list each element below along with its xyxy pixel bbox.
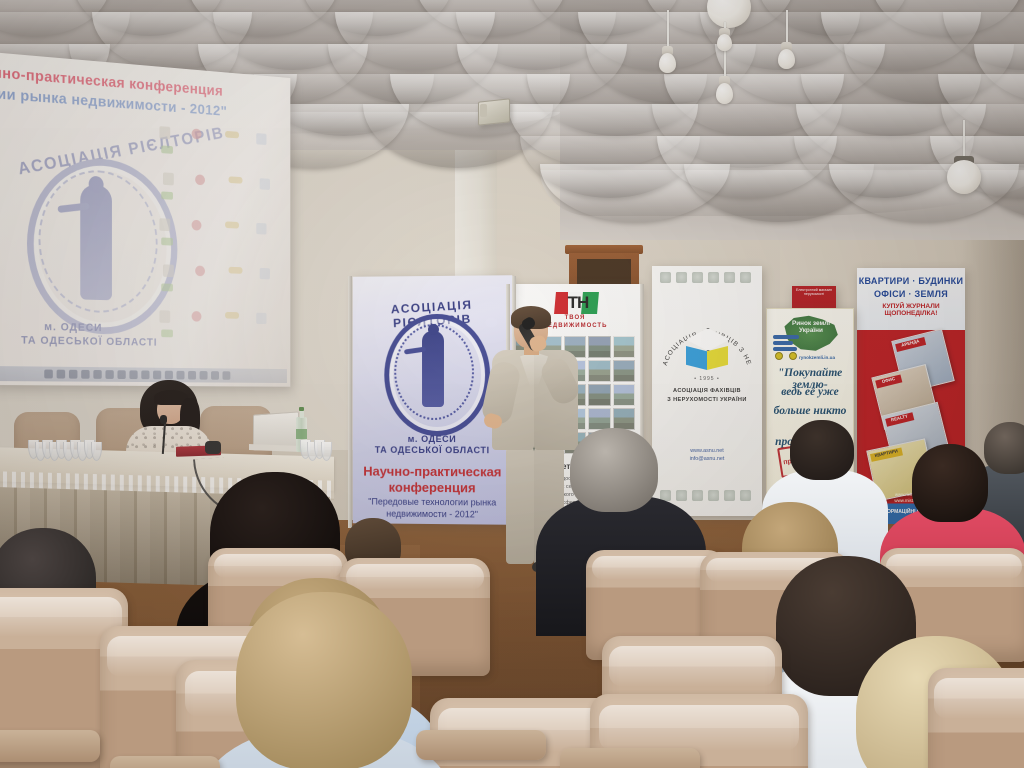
banner-land-map-text: Ринок землі України bbox=[785, 320, 837, 335]
seat-highlight bbox=[934, 678, 1024, 720]
banner-afnu-ornament bbox=[708, 272, 719, 283]
banner-afnu-line-2: З НЕРУХОМОСТІ УКРАЇНИ bbox=[652, 397, 762, 403]
banner-tn-photo-cell bbox=[613, 408, 635, 430]
seat-highlight bbox=[609, 646, 775, 688]
banner-afnu-year: • 1995 • bbox=[682, 376, 732, 382]
lamp-cord bbox=[963, 120, 965, 158]
seat-armrest bbox=[110, 756, 220, 768]
ceiling-globe-lamp bbox=[707, 0, 751, 28]
ceiling-globe-lamp bbox=[947, 160, 981, 194]
ceiling-bulb bbox=[778, 49, 795, 69]
projector-lens-icon bbox=[480, 104, 487, 117]
banner-land-quote-2: ведь её уже bbox=[769, 386, 851, 398]
banner-magazines-head-1: КВАРТИРИ · БУДИНКИ bbox=[857, 276, 965, 286]
afnu-cube-left-face bbox=[686, 346, 707, 370]
land-bar-1 bbox=[773, 335, 799, 339]
audience-person-head bbox=[790, 420, 854, 480]
audience-person-head bbox=[912, 444, 988, 522]
banner-afnu-ornament bbox=[740, 272, 751, 283]
banner-tn-photo-cell bbox=[588, 408, 610, 430]
land-wheel-2 bbox=[789, 352, 797, 360]
screen-glare bbox=[0, 52, 290, 387]
microphone-head bbox=[160, 415, 167, 424]
magazine-band-1: АРЕНДА bbox=[895, 337, 926, 352]
banner-far-top-text: Електронний магазин нерухомості bbox=[794, 288, 834, 296]
seat-highlight bbox=[0, 597, 122, 637]
land-bar-3 bbox=[773, 347, 797, 351]
ceiling-bulb bbox=[717, 34, 732, 51]
land-wheel-1 bbox=[775, 352, 783, 360]
banner-magazines-head-2: ОФІСИ · ЗЕМЛЯ bbox=[857, 289, 965, 299]
projection-screen: ая научно-практическая конференция хноло… bbox=[0, 52, 290, 387]
afnu-cube-logo-icon bbox=[686, 328, 728, 370]
seat-highlight bbox=[214, 554, 343, 579]
land-bar-2 bbox=[773, 341, 793, 345]
banner-afnu-line-1: АСОЦІАЦІЯ ФАХІВЦІВ bbox=[652, 388, 762, 394]
audience-person-head bbox=[236, 592, 412, 768]
banner-land-quote-3: больше никто bbox=[769, 405, 851, 417]
magazine-band-2: ОФИС bbox=[875, 374, 902, 388]
banner-afnu-ornament bbox=[724, 272, 735, 283]
audience-person-head bbox=[570, 428, 658, 512]
magazine-band-3: REALTY bbox=[885, 412, 914, 427]
banner-tn-photo-cell bbox=[613, 336, 635, 358]
banner-afnu-ornament bbox=[676, 272, 687, 283]
audience-person-head bbox=[984, 422, 1024, 474]
banner-afnu-ornament bbox=[660, 272, 671, 283]
banner-tn-photo-cell bbox=[613, 360, 635, 382]
seat-highlight bbox=[346, 564, 484, 590]
banner-tn-photo-cell bbox=[588, 360, 610, 382]
lamp-cord bbox=[667, 10, 669, 48]
lamp-cord bbox=[786, 10, 788, 44]
banner-tn-photo-cell bbox=[588, 336, 610, 358]
banner-tn-photo-cell bbox=[588, 384, 610, 406]
seat-armrest bbox=[560, 748, 700, 768]
seat-armrest bbox=[0, 730, 100, 762]
banner-magazines-head-3: КУПУЙ ЖУРНАЛИ ЩОПОНЕДІЛКА! bbox=[857, 303, 965, 317]
banner-afnu-ornament bbox=[692, 272, 703, 283]
banner-land-url: rynokzemli.in.ua bbox=[799, 355, 849, 360]
seat-highlight bbox=[886, 554, 1022, 579]
banner-blue-figure-head bbox=[428, 324, 439, 335]
banner-afnu-ornaments-top bbox=[652, 272, 762, 286]
conference-photo: ая научно-практическая конференция хноло… bbox=[0, 0, 1024, 768]
audience-area bbox=[0, 430, 1024, 768]
seat-highlight bbox=[599, 705, 800, 752]
ceiling-bulb bbox=[716, 83, 733, 104]
audience-seat bbox=[928, 668, 1024, 768]
banner-blue-figure bbox=[422, 331, 444, 407]
ceiling-bulb bbox=[659, 53, 676, 73]
banner-tn-photo-cell bbox=[613, 384, 635, 406]
water-bottle-cap bbox=[299, 407, 304, 411]
seat-armrest bbox=[416, 730, 546, 760]
